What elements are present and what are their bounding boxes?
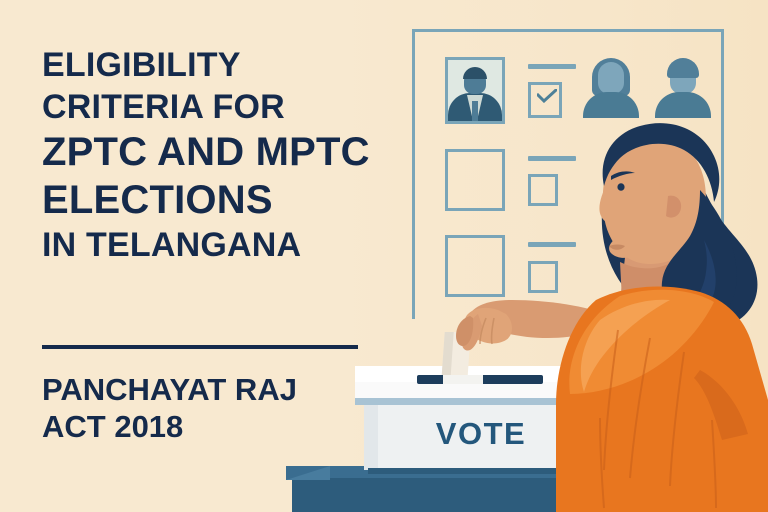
avatar-hair (667, 58, 699, 78)
male-avatar-icon (655, 56, 711, 118)
portrait-hair (463, 67, 487, 79)
ballot-checkbox-2[interactable] (528, 174, 558, 206)
portrait-tie (472, 101, 478, 121)
ballot-box-foot (368, 468, 594, 474)
table-body (292, 478, 586, 512)
ballot-checkbox-1[interactable] (528, 82, 562, 118)
checkmark-icon (537, 89, 557, 103)
ballot-checkbox-3[interactable] (528, 261, 558, 293)
ballot-board-inner (415, 32, 721, 319)
headline-line-2: CRITERIA FOR (42, 90, 442, 124)
headline-line-4: ELECTIONS (42, 180, 442, 220)
poster-canvas: VOTE ELIGIBILITY CRITERIA FOR ZPTC AND M… (0, 0, 768, 512)
candidate-photo-frame-2 (445, 149, 505, 211)
headline-line-5: IN TELANGANA (42, 228, 442, 262)
female-avatar-icon (583, 56, 639, 118)
avatar-body (655, 92, 711, 118)
ballot-line-2 (528, 156, 576, 161)
title-divider (42, 345, 358, 349)
vote-label: VOTE (364, 416, 598, 452)
ballot-line-3 (528, 242, 576, 247)
subtitle-line-2: ACT 2018 (42, 409, 372, 446)
page-title: ELIGIBILITY CRITERIA FOR ZPTC AND MPTC E… (42, 48, 442, 270)
candidate-photo-frame-1 (445, 57, 505, 124)
headline-line-3: ZPTC AND MPTC (42, 132, 442, 172)
avatar-body (583, 92, 639, 118)
ballot-box-lid-edge (355, 398, 607, 405)
subtitle-line-1: PANCHAYAT RAJ (42, 372, 372, 409)
ballot-box-slot-gap (443, 375, 483, 384)
headline-line-1: ELIGIBILITY (42, 48, 442, 82)
ballot-board (412, 29, 724, 319)
candidate-portrait-icon (448, 60, 502, 121)
candidate-photo-frame-3 (445, 235, 505, 297)
subtitle: PANCHAYAT RAJ ACT 2018 (42, 372, 372, 445)
ballot-line-1 (528, 64, 576, 69)
